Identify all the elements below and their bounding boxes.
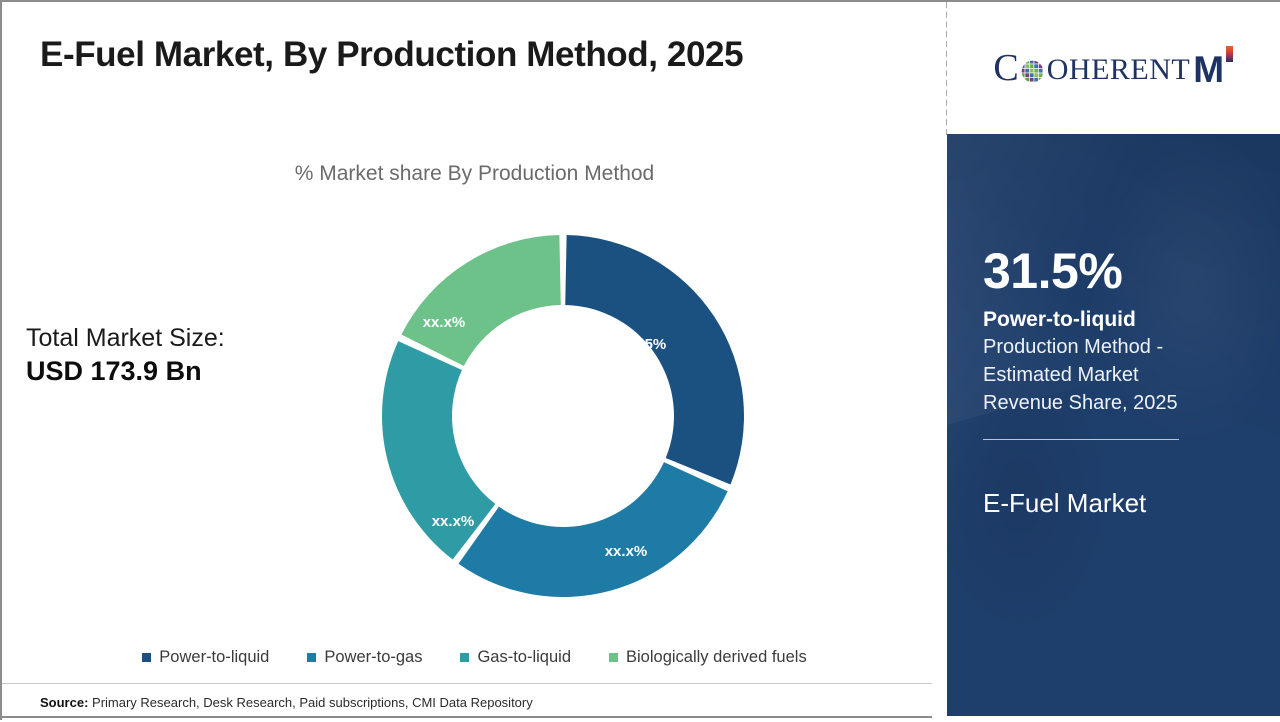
total-market-size-label: Total Market Size:	[26, 322, 326, 354]
donut-slice-label: xx.x%	[605, 543, 648, 560]
brand-logo[interactable]: C	[947, 2, 1280, 134]
highlight-divider	[983, 439, 1179, 440]
right-panel: C	[947, 2, 1280, 722]
legend-label: Power-to-gas	[324, 648, 422, 667]
logo-i-gradient-bar	[1226, 46, 1233, 62]
left-panel: E-Fuel Market, By Production Method, 202…	[2, 2, 947, 722]
bottom-border	[2, 716, 932, 718]
legend-label: Gas-to-liquid	[477, 648, 571, 667]
infographic-root: E-Fuel Market, By Production Method, 202…	[0, 0, 1280, 720]
legend-label: Biologically derived fuels	[626, 648, 807, 667]
legend-swatch-icon	[307, 653, 316, 662]
report-name: E-Fuel Market	[983, 488, 1280, 519]
logo-lockup: C	[993, 49, 1235, 87]
legend-swatch-icon	[609, 653, 618, 662]
legend-label: Power-to-liquid	[159, 648, 269, 667]
donut-slice	[565, 235, 744, 484]
highlight-segment-name: Power-to-liquid	[983, 306, 1280, 334]
legend-swatch-icon	[460, 653, 469, 662]
logo-wordmark: OHERENT	[1047, 55, 1190, 85]
logo-letter-m: M	[1193, 51, 1223, 88]
legend-item[interactable]: Biologically derived fuels	[609, 648, 807, 667]
legend-swatch-icon	[142, 653, 151, 662]
donut-slice-label: 31.5%	[624, 336, 667, 353]
footer-divider	[2, 683, 932, 684]
page-title: E-Fuel Market, By Production Method, 202…	[40, 35, 743, 75]
donut-chart: 31.5%xx.x%xx.x%xx.x%	[377, 227, 749, 605]
highlight-percent: 31.5%	[983, 134, 1280, 296]
highlight-panel: 31.5% Power-to-liquid Production Method …	[947, 134, 1280, 716]
logo-letter-c: C	[993, 49, 1018, 87]
highlight-description: Production Method - Estimated Market Rev…	[983, 334, 1211, 417]
donut-slice-label: xx.x%	[423, 314, 466, 331]
total-market-size-value: USD 173.9 Bn	[26, 354, 326, 389]
donut-slice-group	[382, 235, 744, 597]
source-label: Source:	[40, 695, 88, 710]
chart-legend: Power-to-liquidPower-to-gasGas-to-liquid…	[2, 648, 947, 667]
source-note: Source: Primary Research, Desk Research,…	[40, 695, 533, 710]
source-text: Primary Research, Desk Research, Paid su…	[92, 695, 533, 710]
total-market-size-block: Total Market Size: USD 173.9 Bn	[26, 322, 326, 389]
donut-chart-svg: 31.5%xx.x%xx.x%xx.x%	[377, 227, 749, 605]
donut-slice-label: xx.x%	[432, 513, 475, 530]
legend-item[interactable]: Power-to-liquid	[142, 648, 269, 667]
chart-subtitle: % Market share By Production Method	[2, 162, 947, 186]
globe-grid-icon	[1019, 58, 1046, 85]
donut-slice	[401, 235, 560, 366]
donut-slice	[459, 462, 728, 597]
highlight-content: 31.5% Power-to-liquid Production Method …	[947, 134, 1280, 519]
legend-item[interactable]: Power-to-gas	[307, 648, 422, 667]
legend-item[interactable]: Gas-to-liquid	[460, 648, 571, 667]
